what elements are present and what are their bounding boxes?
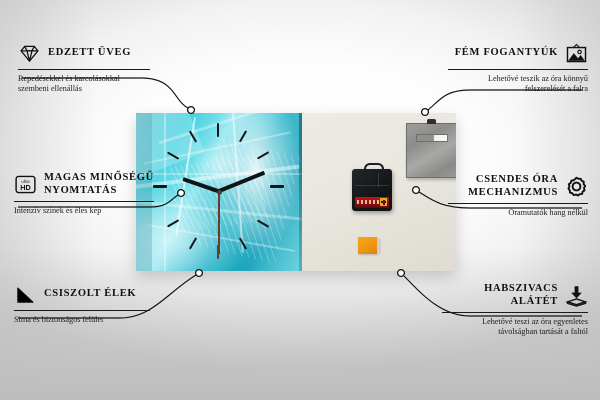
feature-title: EDZETT ÜVEG [48,47,131,60]
feature-polished-edges[interactable]: CSISZOLT ÉLEK Sima és biztonságos felüle… [14,283,150,325]
feature-divider [14,201,154,202]
feature-description: Lehetővé teszik az óra könnyű felszerelé… [448,74,588,95]
feature-heading: FÉM FOGANTYÚK [448,42,588,65]
feature-title: CSENDES ÓRA MECHANIZMUS [448,174,558,199]
feature-heading: EDZETT ÜVEG [18,42,150,65]
connector-dot-print [178,190,185,197]
feature-heading: CSISZOLT ÉLEK [14,283,150,306]
feature-heading: HABSZIVACS ALÁTÉT [442,283,588,308]
ultra-hd-icon: ultra HD [14,173,37,196]
feature-high-quality-print[interactable]: ultra HD MAGAS MINŐSÉGŰ NYOMTATÁS Intenz… [14,172,154,216]
feature-foam-pad[interactable]: HABSZIVACS ALÁTÉT Lehetővé teszi az óra … [442,283,588,338]
feature-description: Repedésekkel és karcolásokkal szembeni e… [18,74,150,95]
diamond-icon [18,42,41,65]
feature-description: Lehetővé teszi az óra egyenletes távolsá… [442,317,588,338]
feature-tempered-glass[interactable]: EDZETT ÜVEG Repedésekkel és karcolásokka… [18,42,150,95]
connector-dot-mechanism [413,187,420,194]
foam-pad-icon [565,284,588,307]
connector-dot-edges [196,270,203,277]
feature-divider [448,69,588,70]
svg-text:HD: HD [20,183,31,192]
connector-dot-foam [398,270,405,277]
gear-icon [565,175,588,198]
feature-description: Intenzív színek és éles kép [14,206,154,216]
feature-metal-hangers[interactable]: FÉM FOGANTYÚK Lehetővé teszik az óra kön… [448,42,588,95]
feature-divider [14,310,150,311]
feature-heading: CSENDES ÓRA MECHANIZMUS [448,174,588,199]
connector-dot-hangers [422,109,429,116]
infographic-canvas: EDZETT ÜVEG Repedésekkel és karcolásokka… [0,0,600,400]
feature-title: MAGAS MINŐSÉGŰ NYOMTATÁS [44,172,154,197]
connector-dot-tempered-glass [188,107,195,114]
feature-divider [18,69,150,70]
feature-title: HABSZIVACS ALÁTÉT [442,283,558,308]
feature-title: FÉM FOGANTYÚK [455,47,558,60]
feature-description: Sima és biztonságos felület [14,315,150,325]
feature-heading: ultra HD MAGAS MINŐSÉGŰ NYOMTATÁS [14,172,154,197]
picture-hanger-icon [565,42,588,65]
feature-divider [448,203,588,204]
polished-edges-icon [14,283,37,306]
feature-divider [442,312,588,313]
feature-title: CSISZOLT ÉLEK [44,288,136,301]
feature-description: Óramutatók hang nélkül [448,208,588,218]
feature-silent-mechanism[interactable]: CSENDES ÓRA MECHANIZMUS Óramutatók hang … [448,174,588,218]
